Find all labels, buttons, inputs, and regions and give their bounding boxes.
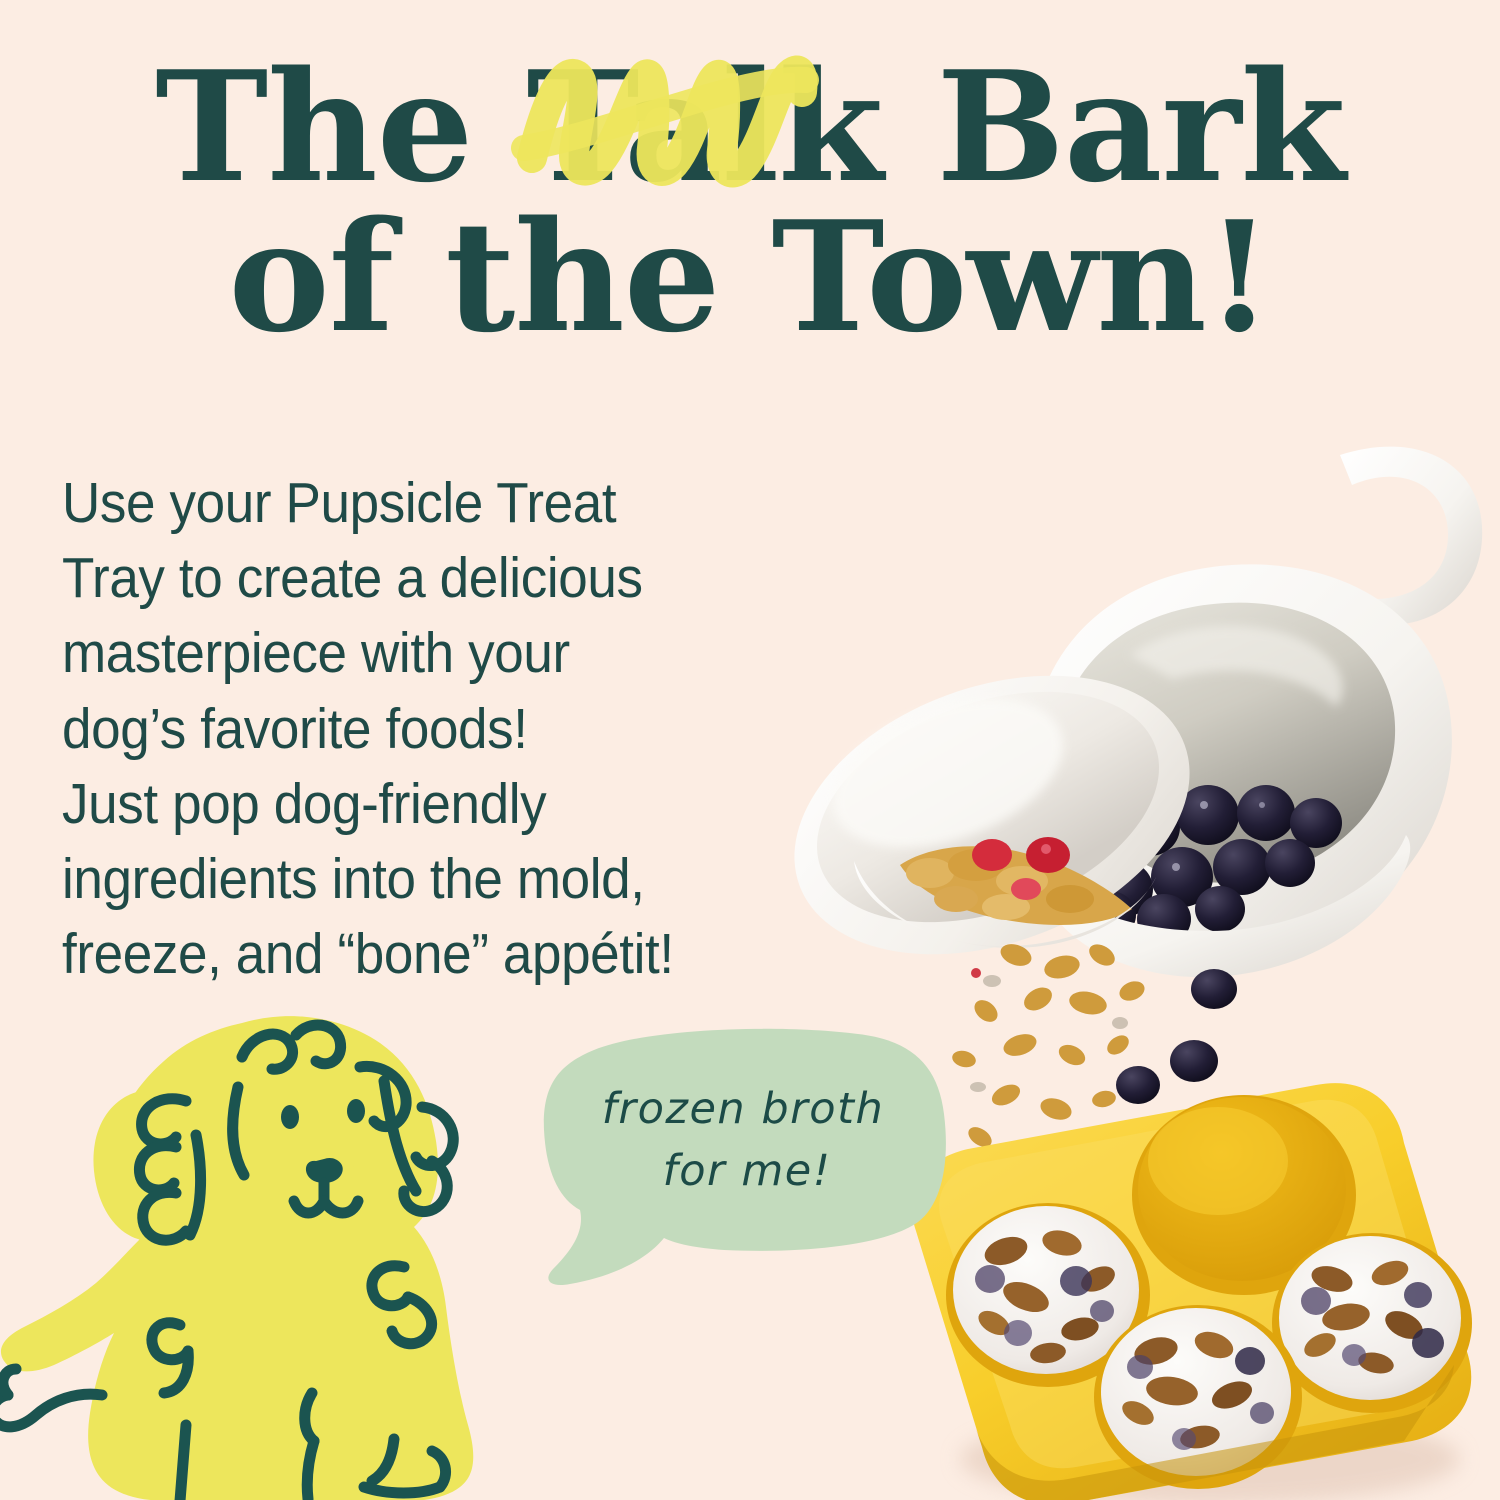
- poster-canvas: The Talk Bark of the Town! Use your Pups…: [0, 0, 1500, 1500]
- dog-doodle-illustration: [0, 995, 510, 1500]
- speech-bubble-line-2: for me!: [528, 1140, 958, 1202]
- headline-struck-word: Talk: [524, 52, 884, 202]
- page-title: The Talk Bark of the Town!: [0, 52, 1500, 353]
- body-line: freeze, and “bone” appétit!: [62, 917, 862, 992]
- body-line: Just pop dog-friendly: [62, 767, 862, 842]
- body-line: Tray to create a delicious: [62, 541, 862, 616]
- yellow-treat-tray: [912, 1083, 1472, 1500]
- speech-bubble: frozen broth for me!: [528, 1022, 958, 1302]
- speech-bubble-text: frozen broth for me!: [528, 1078, 958, 1203]
- headline-line-2: of the Town!: [0, 202, 1500, 352]
- product-photo-composition: [780, 395, 1500, 1500]
- body-line: Use your Pupsicle Treat: [62, 466, 862, 541]
- headline-line-1: The Talk Bark: [0, 52, 1500, 202]
- body-line: dog’s favorite foods!: [62, 692, 862, 767]
- body-line: masterpiece with your: [62, 616, 862, 691]
- speech-bubble-line-1: frozen broth: [528, 1078, 958, 1140]
- body-copy: Use your Pupsicle Treat Tray to create a…: [62, 466, 862, 993]
- body-line: ingredients into the mold,: [62, 842, 862, 917]
